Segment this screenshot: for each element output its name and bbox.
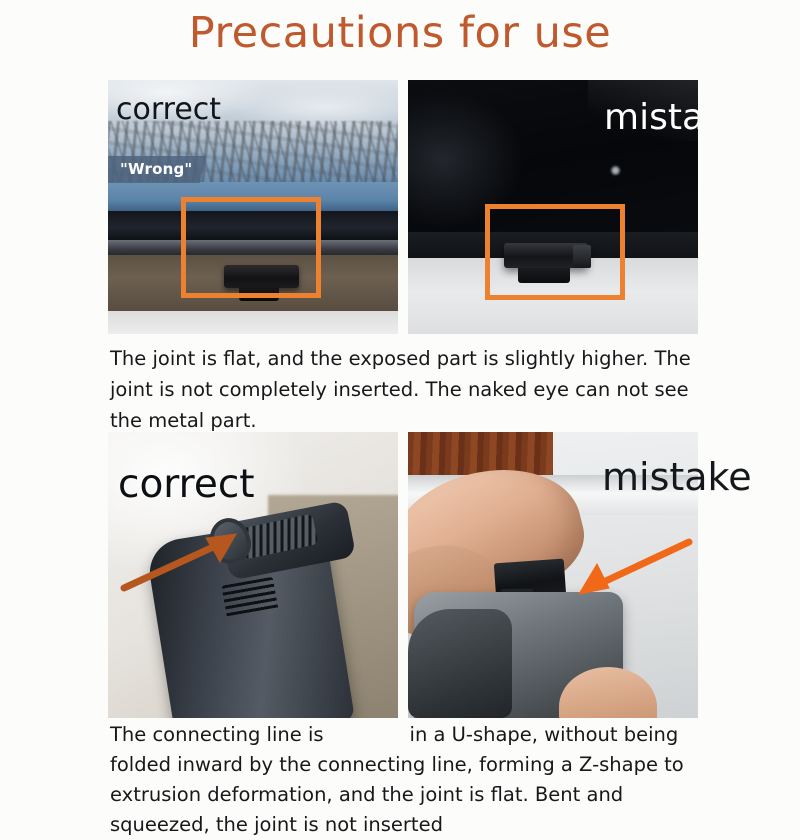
panel-label-correct-top: correct bbox=[116, 92, 221, 127]
device-body-shadow bbox=[408, 609, 512, 718]
highlight-rectangle-top-right bbox=[485, 204, 625, 300]
screen-glare bbox=[588, 80, 698, 141]
caption-top: The joint is flat, and the exposed part … bbox=[110, 343, 710, 436]
photo-floor-layer bbox=[108, 311, 398, 334]
precautions-infographic: Precautions for use correct "Wrong" mist… bbox=[0, 0, 800, 800]
panel-label-correct-bottom: correct bbox=[118, 462, 255, 507]
panel-label-mistake-bottom: mistake bbox=[602, 455, 752, 499]
arrow-icon-down-left bbox=[573, 538, 693, 600]
page-title: Precautions for use bbox=[0, 8, 800, 58]
wrong-badge: "Wrong" bbox=[108, 156, 206, 183]
caption-bottom-part1: The connecting line is bbox=[110, 723, 324, 746]
caption-bottom: The connecting line isin a U-shape, with… bbox=[110, 720, 720, 840]
highlight-rectangle-top-left bbox=[181, 197, 321, 298]
arrow-icon-up-right bbox=[120, 528, 245, 594]
